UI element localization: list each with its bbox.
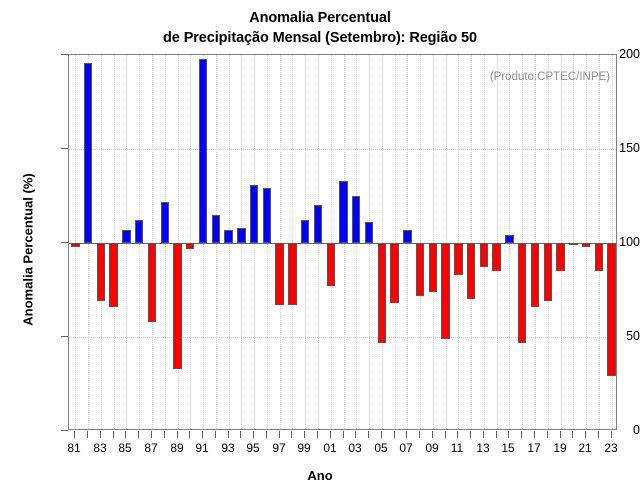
x-tick-mark bbox=[164, 431, 165, 438]
x-tick-mark bbox=[279, 431, 280, 438]
x-tick-mark bbox=[215, 431, 216, 438]
x-tick-mark bbox=[534, 431, 535, 438]
bar-2019 bbox=[556, 243, 564, 271]
gridline-vertical bbox=[331, 55, 332, 429]
bar-2003 bbox=[352, 196, 360, 243]
y-tick-mark bbox=[61, 54, 68, 55]
x-tick-mark bbox=[394, 431, 395, 438]
gridline-vertical bbox=[586, 55, 587, 429]
bar-1991 bbox=[199, 59, 207, 243]
bar-1984 bbox=[109, 243, 117, 307]
y-axis-title: Anomalia Percentual (%) bbox=[21, 130, 36, 370]
gridline-vertical bbox=[573, 55, 574, 429]
x-tick-mark bbox=[381, 431, 382, 438]
gridline-vertical bbox=[446, 55, 447, 429]
bar-2004 bbox=[365, 222, 373, 243]
x-tick-mark bbox=[74, 431, 75, 438]
x-tick-mark bbox=[125, 431, 126, 438]
gridline-vertical bbox=[382, 55, 383, 429]
bar-1981 bbox=[71, 243, 79, 247]
gridline-vertical bbox=[75, 55, 76, 429]
bar-2014 bbox=[492, 243, 500, 271]
bar-2001 bbox=[327, 243, 335, 286]
chart-title-block: Anomalia Percentual de Precipitação Mens… bbox=[0, 8, 640, 48]
x-tick-mark bbox=[572, 431, 573, 438]
bar-1990 bbox=[186, 243, 194, 249]
gridline-vertical bbox=[395, 55, 396, 429]
x-tick-mark bbox=[483, 431, 484, 438]
bar-1986 bbox=[135, 220, 143, 243]
bar-1998 bbox=[288, 243, 296, 305]
x-tick-mark bbox=[406, 431, 407, 438]
x-tick-mark bbox=[189, 431, 190, 438]
x-tick-mark bbox=[304, 431, 305, 438]
gridline-vertical bbox=[152, 55, 153, 429]
x-tick-mark bbox=[560, 431, 561, 438]
bar-2000 bbox=[314, 205, 322, 243]
x-tick-mark bbox=[457, 431, 458, 438]
bar-1982 bbox=[84, 63, 92, 243]
x-tick-mark bbox=[419, 431, 420, 438]
bar-2010 bbox=[441, 243, 449, 339]
bar-2017 bbox=[531, 243, 539, 307]
bar-1994 bbox=[237, 228, 245, 243]
x-tick-mark bbox=[521, 431, 522, 438]
x-tick-mark bbox=[100, 431, 101, 438]
x-tick-mark bbox=[253, 431, 254, 438]
bar-1997 bbox=[275, 243, 283, 305]
anomaly-bar-chart: Anomalia Percentual de Precipitação Mens… bbox=[0, 0, 640, 500]
x-tick-mark bbox=[343, 431, 344, 438]
y-tick-mark bbox=[61, 430, 68, 431]
x-tick-mark bbox=[445, 431, 446, 438]
x-tick-mark bbox=[470, 431, 471, 438]
bar-2023 bbox=[607, 243, 615, 376]
bar-1996 bbox=[263, 188, 271, 243]
bar-1999 bbox=[301, 220, 309, 243]
x-tick-mark bbox=[151, 431, 152, 438]
gridline-vertical bbox=[292, 55, 293, 429]
gridline-vertical bbox=[497, 55, 498, 429]
gridline-vertical bbox=[190, 55, 191, 429]
x-tick-mark bbox=[317, 431, 318, 438]
bar-1992 bbox=[212, 215, 220, 243]
y-tick-mark bbox=[61, 148, 68, 149]
gridline-vertical bbox=[420, 55, 421, 429]
x-tick-mark bbox=[432, 431, 433, 438]
x-tick-mark bbox=[598, 431, 599, 438]
bar-2007 bbox=[403, 230, 411, 243]
bar-1993 bbox=[224, 230, 232, 243]
bar-2011 bbox=[454, 243, 462, 275]
gridline-vertical bbox=[535, 55, 536, 429]
plot-area: (Produto:CPTEC/INPE) bbox=[68, 54, 617, 430]
gridline-vertical bbox=[114, 55, 115, 429]
y-tick-mark bbox=[61, 242, 68, 243]
gridline-vertical bbox=[484, 55, 485, 429]
gridline-vertical bbox=[280, 55, 281, 429]
x-tick-mark bbox=[547, 431, 548, 438]
bar-2022 bbox=[595, 243, 603, 271]
x-tick-mark bbox=[496, 431, 497, 438]
bar-2008 bbox=[416, 243, 424, 296]
bar-1985 bbox=[122, 230, 130, 243]
bar-2005 bbox=[378, 243, 386, 343]
x-tick-mark bbox=[266, 431, 267, 438]
chart-title-line-1: Anomalia Percentual bbox=[0, 8, 640, 28]
x-tick-label: 23 bbox=[593, 441, 629, 455]
gridline-vertical bbox=[101, 55, 102, 429]
bar-2018 bbox=[544, 243, 552, 301]
bar-1989 bbox=[173, 243, 181, 369]
x-tick-mark bbox=[202, 431, 203, 438]
x-tick-mark bbox=[228, 431, 229, 438]
bar-2006 bbox=[390, 243, 398, 303]
bar-2013 bbox=[480, 243, 488, 267]
x-tick-mark bbox=[368, 431, 369, 438]
bar-1988 bbox=[161, 202, 169, 243]
bar-1983 bbox=[97, 243, 105, 301]
gridline-vertical bbox=[522, 55, 523, 429]
gridline-vertical bbox=[458, 55, 459, 429]
x-axis-title: Ano bbox=[0, 468, 640, 483]
y-tick-mark bbox=[61, 336, 68, 337]
bar-1987 bbox=[148, 243, 156, 322]
x-tick-mark bbox=[177, 431, 178, 438]
bar-2012 bbox=[467, 243, 475, 299]
bar-2009 bbox=[429, 243, 437, 292]
gridline-vertical bbox=[548, 55, 549, 429]
gridline-vertical bbox=[599, 55, 600, 429]
product-credit-label: (Produto:CPTEC/INPE) bbox=[490, 71, 610, 83]
bar-2021 bbox=[582, 243, 590, 247]
bar-2002 bbox=[339, 181, 347, 243]
x-tick-mark bbox=[611, 431, 612, 438]
x-tick-mark bbox=[330, 431, 331, 438]
gridline-vertical bbox=[471, 55, 472, 429]
gridline-vertical bbox=[178, 55, 179, 429]
x-tick-mark bbox=[138, 431, 139, 438]
x-tick-mark bbox=[508, 431, 509, 438]
x-tick-mark bbox=[291, 431, 292, 438]
bar-2015 bbox=[505, 235, 513, 243]
bar-2020 bbox=[569, 243, 577, 245]
x-tick-mark bbox=[113, 431, 114, 438]
bar-1995 bbox=[250, 185, 258, 243]
x-tick-mark bbox=[355, 431, 356, 438]
x-tick-mark bbox=[585, 431, 586, 438]
x-tick-mark bbox=[240, 431, 241, 438]
gridline-vertical bbox=[433, 55, 434, 429]
gridline-vertical bbox=[561, 55, 562, 429]
bar-2016 bbox=[518, 243, 526, 343]
chart-title-line-2: de Precipitação Mensal (Setembro): Regiã… bbox=[0, 28, 640, 48]
x-tick-mark bbox=[87, 431, 88, 438]
